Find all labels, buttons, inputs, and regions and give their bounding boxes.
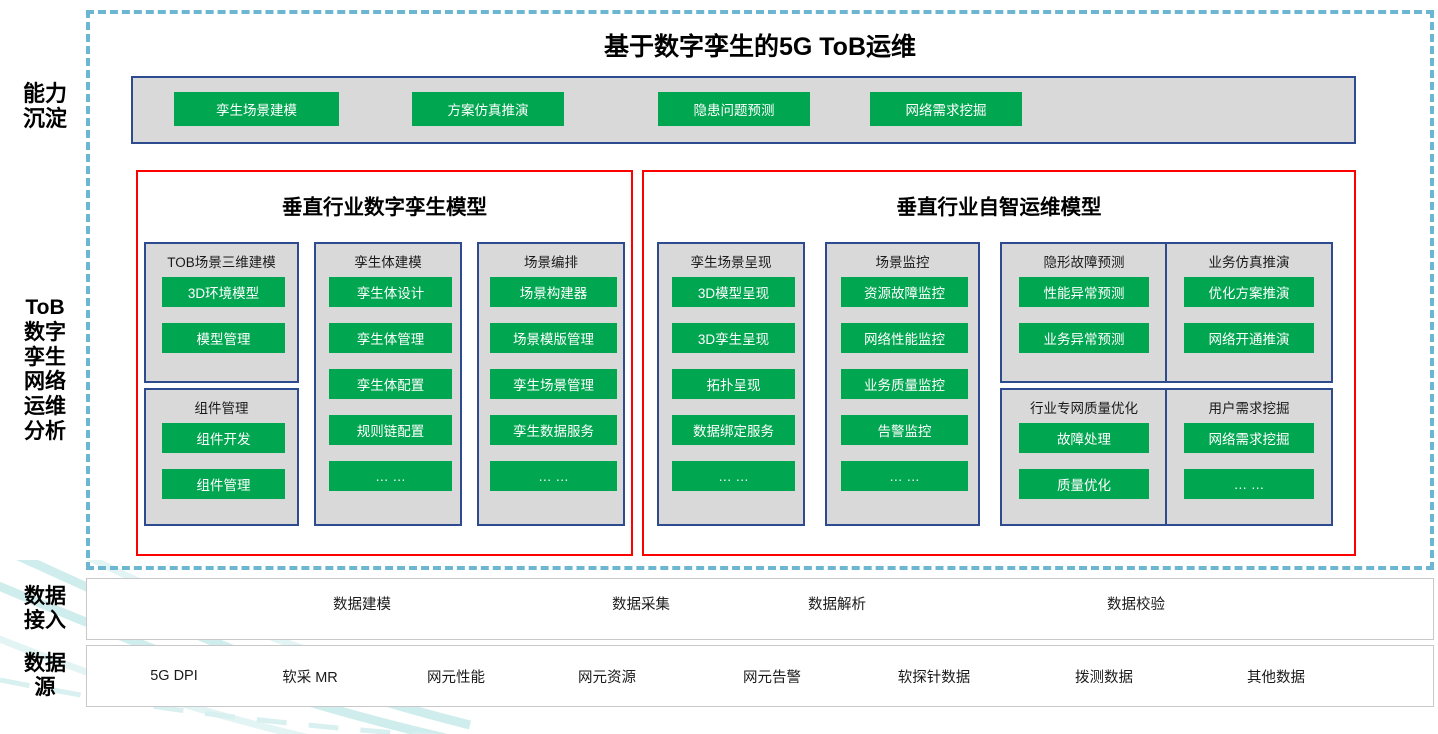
- data-source-item-0[interactable]: 5G DPI: [104, 646, 244, 706]
- card-scene-orchestration[interactable]: 场景编排 场景构建器 场景模版管理 孪生场景管理 孪生数据服务 … …: [477, 242, 625, 526]
- card-twin-modeling[interactable]: 孪生体建模 孪生体设计 孪生体管理 孪生体配置 规则链配置 … …: [314, 242, 462, 526]
- chip-network-provision-sim[interactable]: 网络开通推演: [1184, 323, 1314, 353]
- panel-twin-model: 垂直行业数字孪生模型 TOB场景三维建模 3D环境模型 模型管理 组件管理 组件…: [136, 170, 633, 556]
- chip-3d-twin-present[interactable]: 3D孪生呈现: [672, 323, 795, 353]
- card-user-demand-mining[interactable]: 用户需求挖掘 网络需求挖掘 … …: [1165, 388, 1333, 526]
- data-source-item-6[interactable]: 拨测数据: [1034, 646, 1174, 706]
- chip-network-demand-mining[interactable]: 网络需求挖掘: [1184, 423, 1314, 453]
- data-access-item-3[interactable]: 数据校验: [1046, 579, 1226, 639]
- chip-fault-handling[interactable]: 故障处理: [1019, 423, 1149, 453]
- chip-service-quality-monitor[interactable]: 业务质量监控: [841, 369, 968, 399]
- rail-data-access-line-1: 数据: [6, 585, 84, 609]
- card-title: 场景监控: [827, 251, 978, 271]
- data-source-item-5[interactable]: 软探针数据: [864, 646, 1004, 706]
- panel-twin-model-title: 垂直行业数字孪生模型: [138, 190, 631, 220]
- card-title: 孪生体建模: [316, 251, 460, 271]
- capability-chip-3[interactable]: 网络需求挖掘: [870, 92, 1022, 126]
- panel-autonomous-ops: 垂直行业自智运维模型 孪生场景呈现 3D模型呈现 3D孪生呈现 拓扑呈现 数据绑…: [642, 170, 1356, 556]
- chip-3d-model-present[interactable]: 3D模型呈现: [672, 277, 795, 307]
- rail-data-access-line-2: 接入: [6, 609, 84, 633]
- rail-core-line-6: 分析: [6, 420, 84, 445]
- capability-chip-0[interactable]: 孪生场景建模: [174, 92, 339, 126]
- card-component-management[interactable]: 组件管理 组件开发 组件管理: [144, 388, 299, 526]
- chip-more[interactable]: … …: [841, 461, 968, 491]
- card-tob-3d-modeling[interactable]: TOB场景三维建模 3D环境模型 模型管理: [144, 242, 299, 383]
- chip-component-mgmt[interactable]: 组件管理: [162, 469, 285, 499]
- data-source-item-7[interactable]: 其他数据: [1206, 646, 1346, 706]
- chip-optimization-plan-sim[interactable]: 优化方案推演: [1184, 277, 1314, 307]
- chip-more[interactable]: … …: [672, 461, 795, 491]
- rail-label-data-source: 数据 源: [6, 652, 84, 699]
- rail-capability-line-2: 沉淀: [6, 107, 84, 132]
- chip-twin-design[interactable]: 孪生体设计: [329, 277, 452, 307]
- card-hidden-fault-prediction[interactable]: 隐形故障预测 性能异常预测 业务异常预测: [1000, 242, 1168, 383]
- data-source-item-2[interactable]: 网元性能: [386, 646, 526, 706]
- card-title: 孪生场景呈现: [659, 251, 803, 271]
- rail-label-data-access: 数据 接入: [6, 585, 84, 632]
- page-title: 基于数字孪生的5G ToB运维: [86, 27, 1434, 63]
- capability-strip: 孪生场景建模 方案仿真推演 隐患问题预测 网络需求挖掘: [131, 76, 1356, 144]
- rail-core-line-2: 数字: [6, 321, 84, 346]
- chip-more[interactable]: … …: [1184, 469, 1314, 499]
- data-access-item-0[interactable]: 数据建模: [272, 579, 452, 639]
- rail-capability-line-1: 能力: [6, 82, 84, 107]
- data-source-item-1[interactable]: 软采 MR: [240, 646, 380, 706]
- card-title: 行业专网质量优化: [1002, 397, 1166, 417]
- chip-alarm-monitor[interactable]: 告警监控: [841, 415, 968, 445]
- card-title: 场景编排: [479, 251, 623, 271]
- chip-resource-fault-monitor[interactable]: 资源故障监控: [841, 277, 968, 307]
- rail-core-line-5: 运维: [6, 395, 84, 420]
- rail-label-core: ToB 数字 孪生 网络 运维 分析: [6, 296, 84, 445]
- card-scene-monitoring[interactable]: 场景监控 资源故障监控 网络性能监控 业务质量监控 告警监控 … …: [825, 242, 980, 526]
- chip-topology-present[interactable]: 拓扑呈现: [672, 369, 795, 399]
- card-title: 隐形故障预测: [1002, 251, 1166, 271]
- chip-twin-scene-mgmt[interactable]: 孪生场景管理: [490, 369, 617, 399]
- card-twin-scene-presentation[interactable]: 孪生场景呈现 3D模型呈现 3D孪生呈现 拓扑呈现 数据绑定服务 … …: [657, 242, 805, 526]
- chip-perf-anomaly-prediction[interactable]: 性能异常预测: [1019, 277, 1149, 307]
- chip-component-dev[interactable]: 组件开发: [162, 423, 285, 453]
- rail-data-source-line-1: 数据: [6, 652, 84, 676]
- card-title: 业务仿真推演: [1167, 251, 1331, 271]
- card-business-simulation[interactable]: 业务仿真推演 优化方案推演 网络开通推演: [1165, 242, 1333, 383]
- panel-autonomous-ops-title: 垂直行业自智运维模型: [644, 190, 1354, 220]
- data-access-item-1[interactable]: 数据采集: [551, 579, 731, 639]
- card-title: 组件管理: [146, 397, 297, 417]
- chip-scene-builder[interactable]: 场景构建器: [490, 277, 617, 307]
- chip-network-perf-monitor[interactable]: 网络性能监控: [841, 323, 968, 353]
- capability-chip-1[interactable]: 方案仿真推演: [412, 92, 564, 126]
- card-title: TOB场景三维建模: [146, 251, 297, 271]
- chip-service-anomaly-prediction[interactable]: 业务异常预测: [1019, 323, 1149, 353]
- rail-core-line-3: 孪生: [6, 346, 84, 371]
- data-source-item-3[interactable]: 网元资源: [537, 646, 677, 706]
- chip-twin-config[interactable]: 孪生体配置: [329, 369, 452, 399]
- rail-data-source-line-2: 源: [6, 676, 84, 700]
- capability-chip-2[interactable]: 隐患问题预测: [658, 92, 810, 126]
- chip-data-binding-service[interactable]: 数据绑定服务: [672, 415, 795, 445]
- chip-twin-data-service[interactable]: 孪生数据服务: [490, 415, 617, 445]
- chip-more[interactable]: … …: [490, 461, 617, 491]
- card-title: 用户需求挖掘: [1167, 397, 1331, 417]
- chip-more[interactable]: … …: [329, 461, 452, 491]
- chip-scene-template-mgmt[interactable]: 场景模版管理: [490, 323, 617, 353]
- data-access-item-2[interactable]: 数据解析: [747, 579, 927, 639]
- chip-twin-mgmt[interactable]: 孪生体管理: [329, 323, 452, 353]
- rail-label-capability: 能力 沉淀: [6, 82, 84, 131]
- data-source-item-4[interactable]: 网元告警: [702, 646, 842, 706]
- chip-model-management[interactable]: 模型管理: [162, 323, 285, 353]
- rail-core-line-1: ToB: [6, 296, 84, 321]
- chip-3d-env-model[interactable]: 3D环境模型: [162, 277, 285, 307]
- chip-rule-chain-config[interactable]: 规则链配置: [329, 415, 452, 445]
- card-industry-network-quality[interactable]: 行业专网质量优化 故障处理 质量优化: [1000, 388, 1168, 526]
- data-source-row: 5G DPI 软采 MR 网元性能 网元资源 网元告警 软探针数据 拨测数据 其…: [86, 645, 1434, 707]
- data-access-row: 数据建模 数据采集 数据解析 数据校验: [86, 578, 1434, 640]
- chip-quality-optimization[interactable]: 质量优化: [1019, 469, 1149, 499]
- rail-core-line-4: 网络: [6, 370, 84, 395]
